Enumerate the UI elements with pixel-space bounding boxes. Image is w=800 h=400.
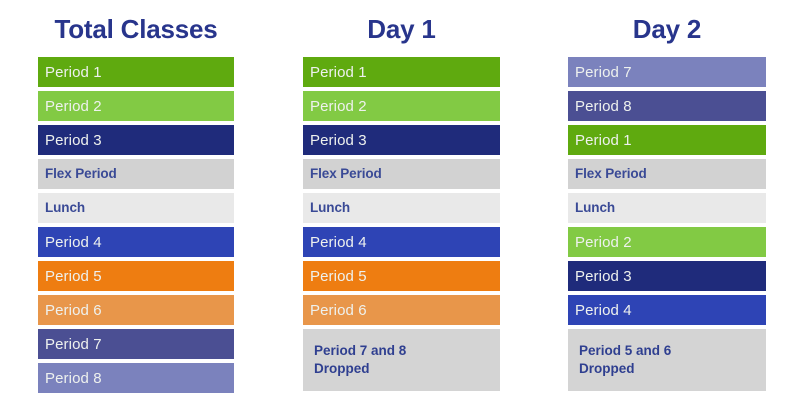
- schedule-row-label: Period 2: [575, 235, 632, 250]
- schedule-row-label: Period 5: [310, 269, 367, 284]
- column-rows-day-2: Period 7Period 8Period 1Flex PeriodLunch…: [568, 57, 766, 391]
- schedule-row: Period 4: [303, 227, 500, 257]
- schedule-row: Lunch: [568, 193, 766, 223]
- schedule-row: Flex Period: [303, 159, 500, 189]
- schedule-row-label: Period 7 and 8 Dropped: [314, 342, 406, 378]
- schedule-row: Lunch: [38, 193, 234, 223]
- schedule-row: Period 1: [38, 57, 234, 87]
- schedule-row-label: Period 4: [575, 303, 632, 318]
- schedule-row-label: Lunch: [45, 201, 85, 215]
- schedule-row: Period 4: [568, 295, 766, 325]
- schedule-board: Total Classes Period 1Period 2Period 3Fl…: [0, 0, 800, 400]
- schedule-row: Period 6: [38, 295, 234, 325]
- schedule-row-label: Period 4: [45, 235, 102, 250]
- schedule-row-label: Period 3: [575, 269, 632, 284]
- column-title-day-2: Day 2: [568, 0, 766, 40]
- schedule-row: Period 6: [303, 295, 500, 325]
- schedule-row: Period 2: [568, 227, 766, 257]
- schedule-row: Period 8: [38, 363, 234, 393]
- schedule-row-label: Period 8: [45, 371, 102, 386]
- column-title-total-classes: Total Classes: [38, 0, 234, 40]
- schedule-column-day-2: Day 2 Period 7Period 8Period 1Flex Perio…: [568, 0, 766, 395]
- schedule-row-label: Period 5 and 6 Dropped: [579, 342, 671, 378]
- schedule-row-label: Period 6: [310, 303, 367, 318]
- schedule-row-label: Period 1: [310, 65, 367, 80]
- schedule-row: Period 8: [568, 91, 766, 121]
- schedule-row: Period 7: [38, 329, 234, 359]
- schedule-row: Period 3: [568, 261, 766, 291]
- column-title-day-1: Day 1: [303, 0, 500, 40]
- schedule-row: Flex Period: [38, 159, 234, 189]
- column-rows-day-1: Period 1Period 2Period 3Flex PeriodLunch…: [303, 57, 500, 391]
- schedule-row-label: Lunch: [310, 201, 350, 215]
- schedule-row: Period 1: [303, 57, 500, 87]
- schedule-row: Period 1: [568, 125, 766, 155]
- schedule-row: Period 2: [303, 91, 500, 121]
- schedule-row: Period 3: [38, 125, 234, 155]
- schedule-row-label: Period 1: [45, 65, 102, 80]
- schedule-row-label: Period 3: [45, 133, 102, 148]
- schedule-row-label: Period 7: [575, 65, 632, 80]
- schedule-row-label: Period 8: [575, 99, 632, 114]
- dropped-note: Period 7 and 8 Dropped: [303, 329, 500, 391]
- schedule-row: Lunch: [303, 193, 500, 223]
- schedule-row: Period 4: [38, 227, 234, 257]
- schedule-row: Period 2: [38, 91, 234, 121]
- schedule-row-label: Period 6: [45, 303, 102, 318]
- schedule-row-label: Period 5: [45, 269, 102, 284]
- schedule-row-label: Lunch: [575, 201, 615, 215]
- column-rows-total-classes: Period 1Period 2Period 3Flex PeriodLunch…: [38, 57, 234, 393]
- schedule-row-label: Flex Period: [310, 167, 382, 181]
- schedule-column-day-1: Day 1 Period 1Period 2Period 3Flex Perio…: [303, 0, 500, 395]
- schedule-row-label: Flex Period: [45, 167, 117, 181]
- schedule-row: Period 5: [303, 261, 500, 291]
- schedule-row: Flex Period: [568, 159, 766, 189]
- schedule-row: Period 3: [303, 125, 500, 155]
- schedule-row-label: Flex Period: [575, 167, 647, 181]
- schedule-row: Period 7: [568, 57, 766, 87]
- schedule-row-label: Period 7: [45, 337, 102, 352]
- dropped-note: Period 5 and 6 Dropped: [568, 329, 766, 391]
- schedule-row-label: Period 3: [310, 133, 367, 148]
- schedule-row-label: Period 4: [310, 235, 367, 250]
- schedule-column-total-classes: Total Classes Period 1Period 2Period 3Fl…: [38, 0, 234, 397]
- schedule-row: Period 5: [38, 261, 234, 291]
- schedule-row-label: Period 2: [310, 99, 367, 114]
- schedule-row-label: Period 2: [45, 99, 102, 114]
- schedule-row-label: Period 1: [575, 133, 632, 148]
